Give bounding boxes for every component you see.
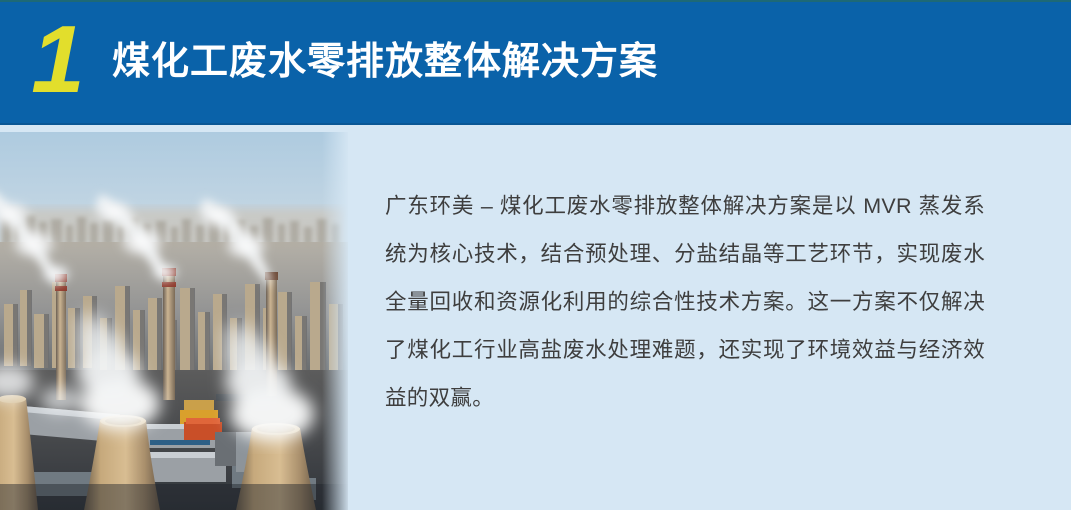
content-area: 广东环美 – 煤化工废水零排放整体解决方案是以 MVR 蒸发系统为核心技术，结合… (0, 125, 1071, 510)
slide-root: 1 煤化工废水零排放整体解决方案 (0, 0, 1071, 510)
header-band: 1 煤化工废水零排放整体解决方案 (0, 0, 1071, 125)
body-paragraph: 广东环美 – 煤化工废水零排放整体解决方案是以 MVR 蒸发系统为核心技术，结合… (385, 182, 985, 422)
industrial-power-plant-cityscape-photo (0, 132, 348, 510)
section-number-badge: 1 (22, 8, 92, 112)
photo-illustration (0, 132, 348, 510)
header-top-rule (0, 0, 1071, 2)
page-title: 煤化工废水零排放整体解决方案 (112, 38, 658, 86)
